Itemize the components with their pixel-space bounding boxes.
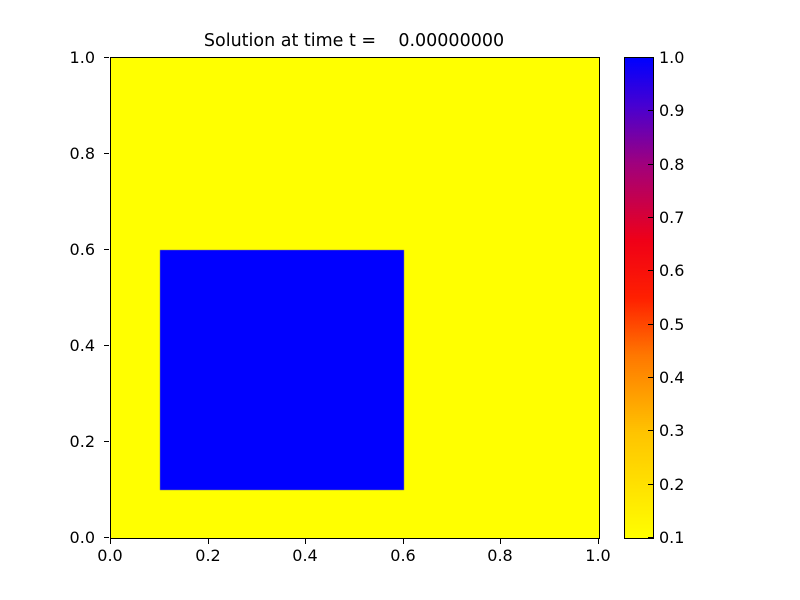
y-tick-label: 0.6	[35, 240, 95, 259]
y-tick-mark	[104, 153, 109, 154]
colorbar-gradient	[625, 58, 653, 538]
x-tick-mark	[305, 539, 306, 544]
y-tick-mark	[104, 537, 109, 538]
y-tick-mark	[104, 441, 109, 442]
y-tick-label: 1.0	[35, 48, 95, 67]
colorbar-tick-label: 0.8	[659, 155, 719, 174]
x-tick-mark	[208, 539, 209, 544]
y-tick-label: 0.4	[35, 336, 95, 355]
x-tick-label: 0.8	[470, 546, 530, 565]
heatmap-axes	[110, 57, 600, 539]
x-tick-mark	[598, 539, 599, 544]
x-tick-label: 0.0	[80, 546, 140, 565]
colorbar-tick-mark	[648, 110, 653, 111]
colorbar-tick-label: 0.4	[659, 368, 719, 387]
colorbar-tick-label: 0.7	[659, 208, 719, 227]
colorbar-tick-label: 0.5	[659, 315, 719, 334]
x-tick-label: 1.0	[568, 546, 628, 565]
colorbar-tick-mark	[648, 430, 653, 431]
colorbar-tick-label: 0.3	[659, 421, 719, 440]
colorbar-tick-mark	[648, 164, 653, 165]
colorbar-tick-label: 0.2	[659, 475, 719, 494]
colorbar-tick-mark	[648, 484, 653, 485]
x-tick-label: 0.6	[373, 546, 433, 565]
page-title: Solution at time t = 0.00000000	[110, 31, 598, 51]
colorbar-tick-mark	[648, 377, 653, 378]
colorbar-tick-label: 1.0	[659, 48, 719, 67]
colorbar-tick-mark	[648, 537, 653, 538]
colorbar	[624, 57, 654, 539]
y-tick-mark	[104, 345, 109, 346]
x-tick-mark	[500, 539, 501, 544]
colorbar-tick-mark	[648, 57, 653, 58]
y-tick-label: 0.2	[35, 432, 95, 451]
y-tick-label: 0.8	[35, 144, 95, 163]
colorbar-tick-mark	[648, 324, 653, 325]
heatmap-image	[111, 58, 599, 538]
colorbar-tick-mark	[648, 270, 653, 271]
colorbar-tick-label: 0.9	[659, 101, 719, 120]
x-tick-mark	[403, 539, 404, 544]
y-tick-label: 0.0	[35, 528, 95, 547]
figure-canvas: Solution at time t = 0.00000000 0.00.20.…	[0, 0, 800, 600]
colorbar-tick-label: 0.6	[659, 261, 719, 280]
y-tick-mark	[104, 57, 109, 58]
y-tick-mark	[104, 249, 109, 250]
colorbar-tick-label: 0.1	[659, 528, 719, 547]
x-tick-label: 0.2	[178, 546, 238, 565]
colorbar-tick-mark	[648, 217, 653, 218]
x-tick-mark	[110, 539, 111, 544]
x-tick-label: 0.4	[275, 546, 335, 565]
